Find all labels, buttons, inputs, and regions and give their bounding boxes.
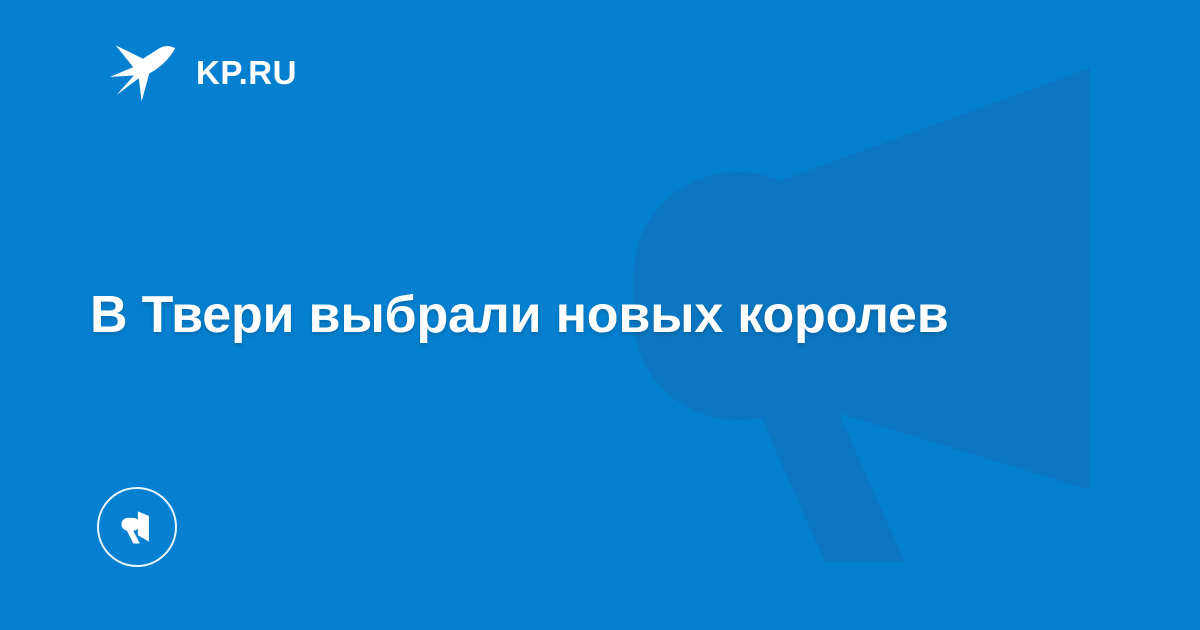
brand-lockup[interactable]: KP.RU: [108, 36, 297, 108]
megaphone-icon: [115, 505, 159, 549]
headline-title: В Твери выбрали новых королев: [90, 285, 1090, 346]
megaphone-badge[interactable]: [97, 487, 177, 567]
brand-wordmark: KP.RU: [196, 56, 297, 89]
megaphone-horn-cone: [768, 68, 1090, 490]
swallow-bird-icon: [108, 37, 178, 107]
share-card: KP.RU В Твери выбрали новых королев: [0, 0, 1200, 630]
megaphone-handle-grip: [740, 370, 905, 562]
